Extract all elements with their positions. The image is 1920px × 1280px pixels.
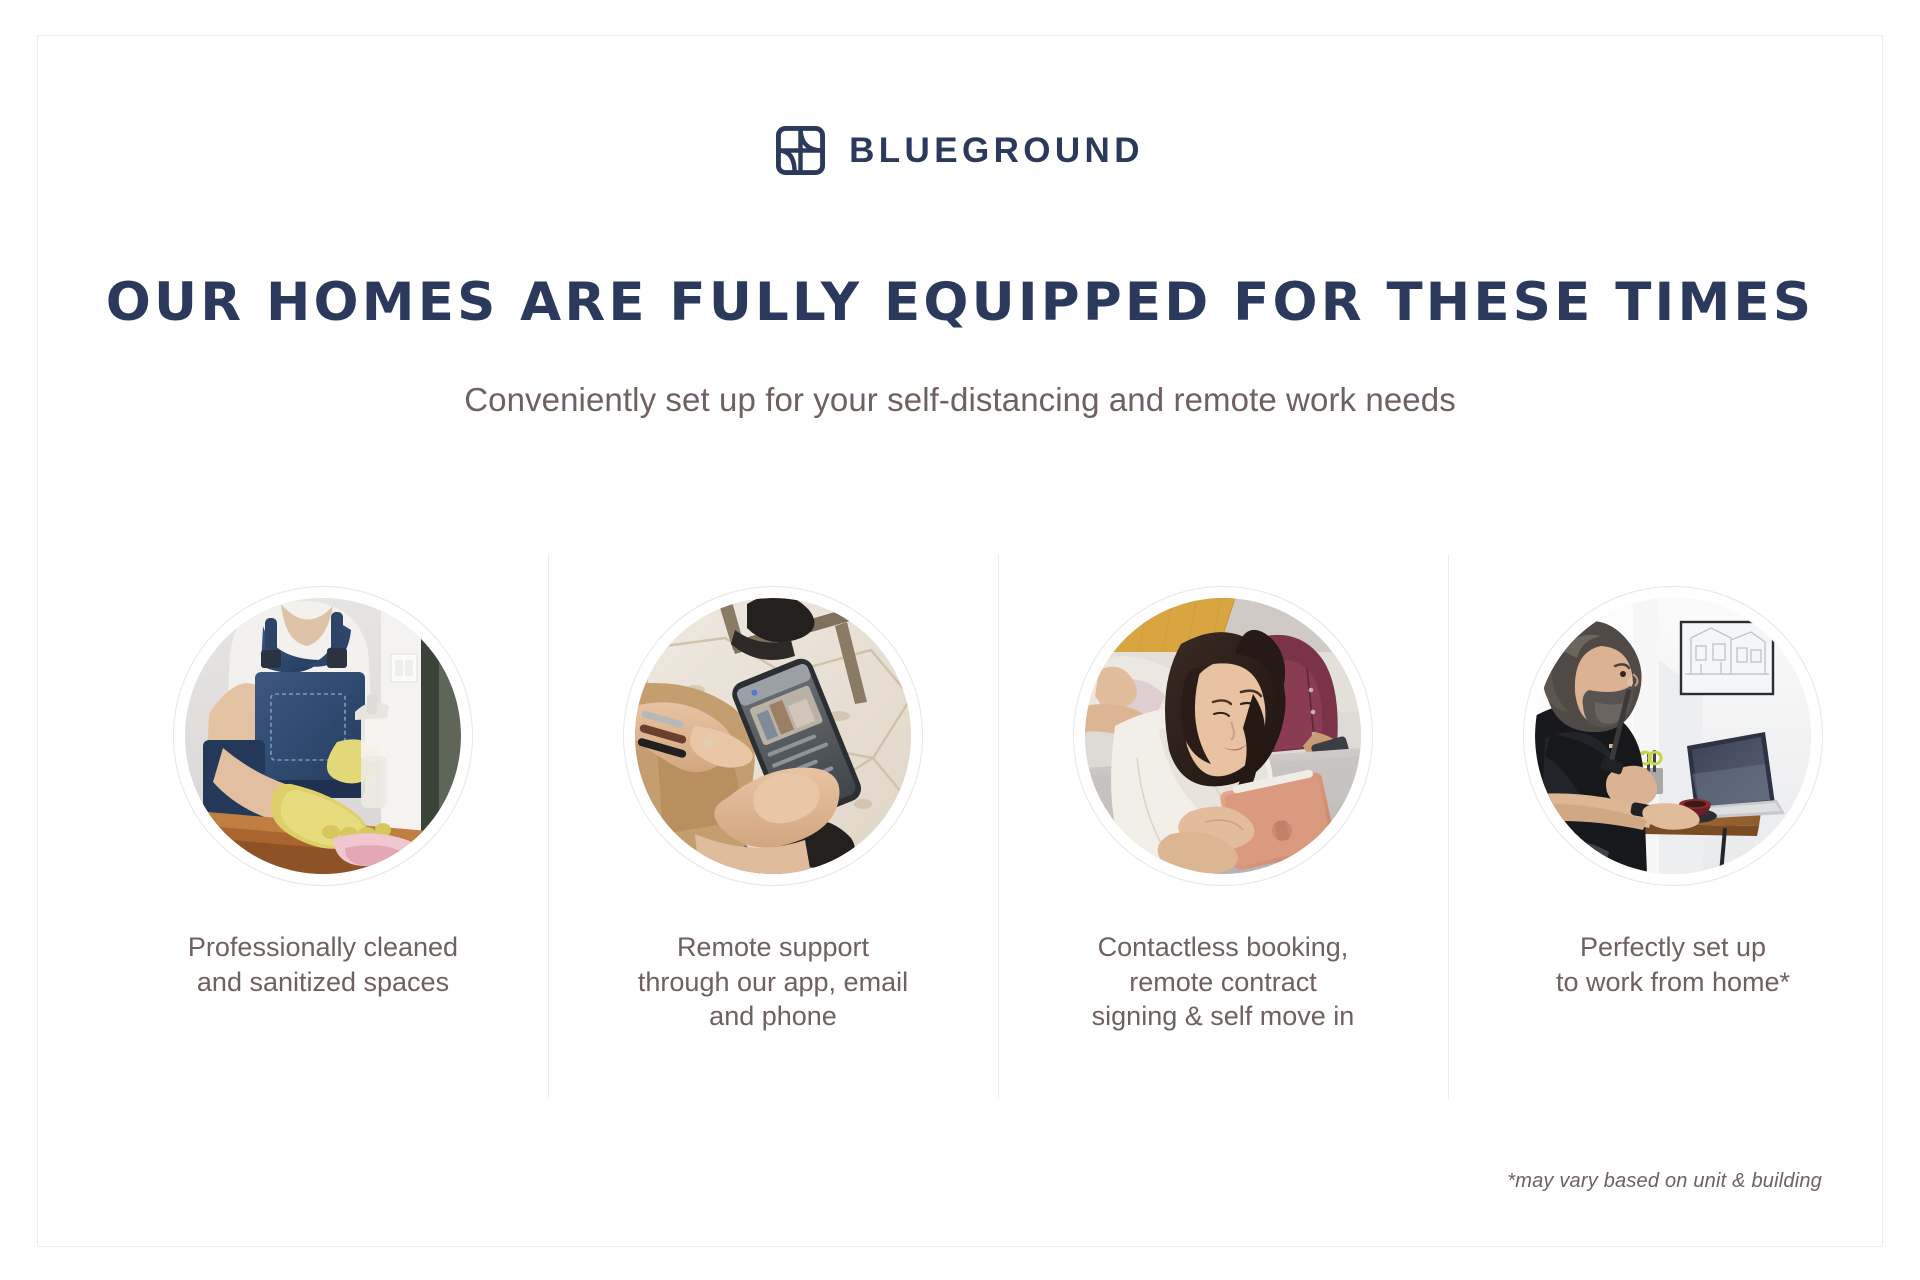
contactless-booking-photo xyxy=(1085,598,1361,874)
feature-column-remote-support: Remote support through our app, email an… xyxy=(548,519,998,1064)
feature-caption: Perfectly set up to work from home* xyxy=(1556,930,1790,999)
photo-ring xyxy=(623,586,923,886)
mobile-app-support-photo xyxy=(635,598,911,874)
feature-column-work-from-home: Perfectly set up to work from home* xyxy=(1448,519,1898,1064)
page-headline: OUR HOMES ARE FULLY EQUIPPED FOR THESE T… xyxy=(38,274,1882,332)
feature-column-cleaning: Professionally cleaned and sanitized spa… xyxy=(98,519,548,1064)
feature-caption: Contactless booking, remote contract sig… xyxy=(1092,930,1355,1034)
page-subheadline: Conveniently set up for your self-distan… xyxy=(38,380,1882,420)
feature-column-contactless-booking: Contactless booking, remote contract sig… xyxy=(998,519,1448,1064)
work-from-home-photo xyxy=(1535,598,1811,874)
footnote-disclaimer: *may vary based on unit & building xyxy=(1507,1170,1822,1193)
photo-ring xyxy=(173,586,473,886)
brand-wordmark: BLUEGROUND xyxy=(849,133,1144,168)
photo-ring xyxy=(1073,586,1373,886)
feature-caption: Remote support through our app, email an… xyxy=(638,930,908,1034)
blueground-square-mark-icon xyxy=(776,126,825,175)
photo-ring xyxy=(1523,586,1823,886)
page-frame: BLUEGROUND OUR HOMES ARE FULLY EQUIPPED … xyxy=(37,35,1883,1247)
brand-header: BLUEGROUND xyxy=(38,126,1882,175)
feature-caption: Professionally cleaned and sanitized spa… xyxy=(188,930,458,999)
professional-cleaning-photo xyxy=(185,598,461,874)
feature-columns: Professionally cleaned and sanitized spa… xyxy=(98,519,1898,1064)
